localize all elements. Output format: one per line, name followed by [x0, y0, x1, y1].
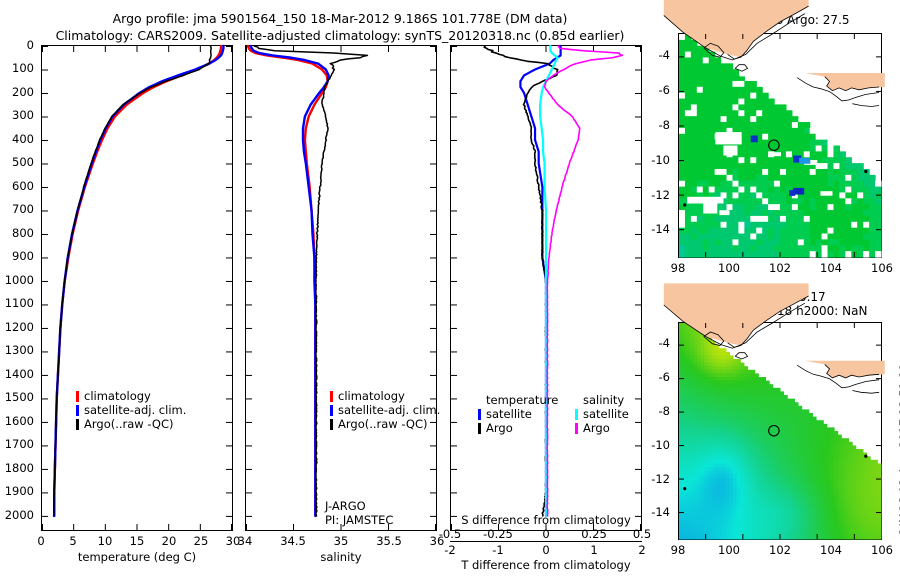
map-sla — [678, 322, 882, 540]
y-tick-label: -10 — [651, 438, 670, 452]
x-tick-label: 2 — [622, 543, 662, 557]
depth-tick-label: 1900 — [5, 484, 34, 498]
depth-tick-label: 200 — [12, 85, 34, 99]
difference-axis-divider — [450, 541, 642, 542]
x-tick-label: 35 — [321, 534, 361, 548]
depth-tick-label: 1100 — [5, 296, 34, 310]
depth-axis-labels: 0100200300400500600700800900100011001200… — [0, 0, 40, 580]
x-tick-label: 35.5 — [369, 534, 409, 548]
x-tick-label: 100 — [709, 261, 749, 275]
x-tick-label: 104 — [811, 261, 851, 275]
legend-label-satellite-adj: satellite-adj. clim. — [338, 403, 440, 417]
depth-tick-label: 1700 — [5, 437, 34, 451]
x-tick-label: 34.5 — [273, 534, 313, 548]
map-sla-xticks: 98100102104106 — [678, 543, 882, 559]
depth-tick-label: 800 — [12, 226, 34, 240]
depth-tick-label: 1200 — [5, 320, 34, 334]
salinity-axis-label: salinity — [245, 550, 437, 564]
legend-item-temperature-argo: Argo — [478, 421, 568, 435]
legend-item-argo: Argo(..raw -QC) — [76, 417, 226, 431]
depth-tick-label: 2000 — [5, 508, 34, 522]
legend-swatch-satellite-adj — [330, 405, 333, 416]
legend-label-climatology: climatology — [338, 389, 405, 403]
legend-label-argo: Argo(..raw -QC) — [338, 417, 428, 431]
y-tick-label: -4 — [659, 336, 670, 350]
difference-legend-temperature: temperature satellite Argo — [478, 393, 568, 435]
legend-heading-temperature: temperature — [478, 393, 568, 407]
legend-label-satellite-adj: satellite-adj. clim. — [84, 403, 186, 417]
y-tick-label: -12 — [651, 472, 670, 486]
legend-item-temperature-satellite: satellite — [478, 407, 568, 421]
depth-tick-label: 700 — [12, 202, 34, 216]
y-tick-label: -8 — [659, 404, 670, 418]
y-tick-label: -6 — [659, 83, 670, 97]
salinity-xticks: 3434.53535.536 — [245, 534, 437, 550]
difference-temperature-axis-label: T difference from climatology — [450, 558, 642, 572]
depth-tick-label: 600 — [12, 179, 34, 193]
figure-title-line2: Climatology: CARS2009. Satellite-adjuste… — [20, 28, 660, 43]
x-tick-label: -0.5 — [430, 527, 470, 541]
x-tick-label: 102 — [760, 261, 800, 275]
x-tick-label: -0.25 — [478, 527, 518, 541]
legend-swatch-salinity-satellite — [575, 409, 578, 420]
depth-tick-label: 100 — [12, 61, 34, 75]
depth-tick-label: 1000 — [5, 273, 34, 287]
temperature-xticks: 051015202530 — [41, 534, 233, 550]
x-tick-label: 106 — [862, 261, 900, 275]
x-tick-label: 104 — [811, 543, 851, 557]
program-label: J-ARGO — [325, 499, 366, 513]
x-tick-label: 34 — [225, 534, 265, 548]
map-sst-yticks: -4-6-8-10-12-14 — [640, 33, 676, 258]
y-tick-label: -10 — [651, 153, 670, 167]
depth-tick-label: 1400 — [5, 367, 34, 381]
legend-swatch-climatology — [76, 391, 79, 402]
depth-tick-label: 0 — [27, 38, 34, 52]
depth-tick-label: 1600 — [5, 414, 34, 428]
difference-salinity-axis-label: S difference from climatology — [450, 513, 642, 527]
map-sla-yticks: -4-6-8-10-12-14 — [640, 322, 676, 540]
x-tick-label: 0.25 — [574, 527, 614, 541]
figure-title-line1: Argo profile: jma 5901564_150 18-Mar-201… — [30, 11, 650, 26]
x-tick-label: 98 — [658, 261, 698, 275]
x-tick-label: 1 — [574, 543, 614, 557]
legend-label-climatology: climatology — [84, 389, 151, 403]
y-tick-label: -4 — [659, 48, 670, 62]
legend-swatch-temperature-satellite — [478, 409, 481, 420]
depth-tick-label: 500 — [12, 155, 34, 169]
x-tick-label: 0 — [526, 543, 566, 557]
panel-temperature — [41, 45, 233, 531]
difference-xticks-top: -0.5-0.2500.250.5 — [450, 527, 642, 541]
temperature-axis-label: temperature (deg C) — [41, 550, 233, 564]
x-tick-label: -1 — [478, 543, 518, 557]
legend-swatch-argo — [76, 419, 79, 430]
x-tick-label: 0 — [526, 527, 566, 541]
map-sst-xticks: 98100102104106 — [678, 261, 882, 277]
y-tick-label: -6 — [659, 370, 670, 384]
legend-swatch-temperature-argo — [478, 423, 481, 434]
legend-swatch-climatology — [330, 391, 333, 402]
legend-swatch-argo — [330, 419, 333, 430]
legend-label-argo: Argo(..raw -QC) — [84, 417, 174, 431]
x-tick-label: 100 — [709, 543, 749, 557]
depth-tick-label: 1500 — [5, 390, 34, 404]
legend-item-climatology: climatology — [76, 389, 226, 403]
difference-xticks-bottom: -2-1012 — [450, 543, 642, 557]
x-tick-label: 98 — [658, 543, 698, 557]
x-tick-label: 102 — [760, 543, 800, 557]
y-tick-label: -14 — [651, 222, 670, 236]
depth-tick-label: 300 — [12, 108, 34, 122]
x-tick-label: -2 — [430, 543, 470, 557]
map-sst — [678, 33, 882, 258]
depth-tick-label: 1300 — [5, 343, 34, 357]
depth-tick-label: 1800 — [5, 461, 34, 475]
panel-salinity — [245, 45, 437, 531]
y-tick-label: -14 — [651, 505, 670, 519]
y-tick-label: -12 — [651, 188, 670, 202]
x-tick-label: 106 — [862, 543, 900, 557]
depth-tick-label: 900 — [12, 249, 34, 263]
legend-swatch-satellite-adj — [76, 405, 79, 416]
y-tick-label: -8 — [659, 118, 670, 132]
pi-label: PI: JAMSTEC — [325, 513, 393, 527]
depth-tick-label: 400 — [12, 132, 34, 146]
panel-difference — [450, 45, 642, 531]
legend-item-satellite-adj: satellite-adj. clim. — [76, 403, 226, 417]
temperature-legend: climatology satellite-adj. clim. Argo(..… — [76, 389, 226, 431]
legend-swatch-salinity-argo — [575, 423, 578, 434]
